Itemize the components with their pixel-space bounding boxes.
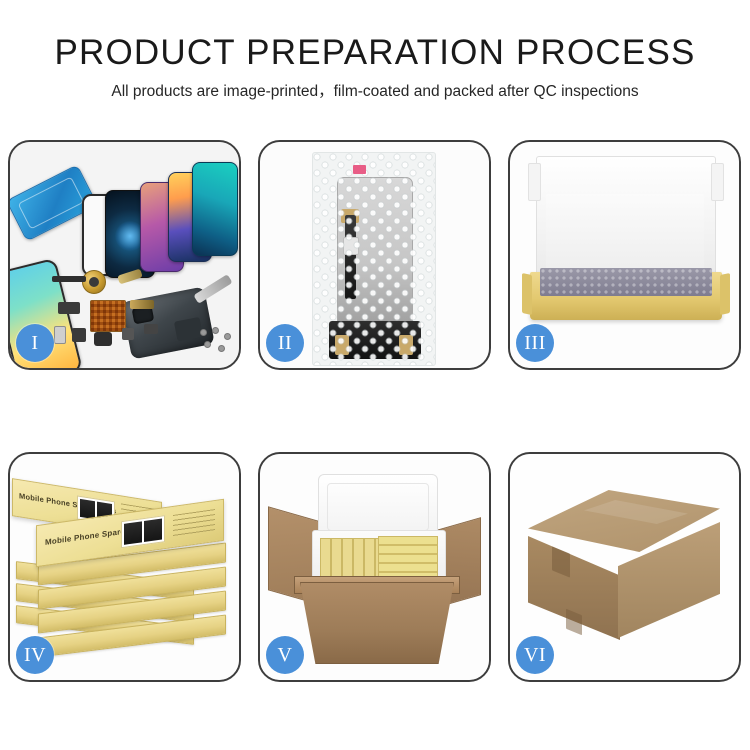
- small-module-part: [58, 302, 80, 314]
- pink-qc-label: [353, 165, 366, 174]
- box-artwork-screens: [121, 515, 165, 548]
- teal-gradient-phone: [192, 162, 238, 256]
- step-panel-1: I: [8, 140, 241, 370]
- step-panel-2: II: [258, 140, 491, 370]
- step-panel-6: VI: [508, 452, 741, 682]
- copper-mesh-part: [90, 300, 126, 332]
- step-badge-1: I: [16, 324, 54, 362]
- bubble-texture: [313, 153, 435, 365]
- step-badge-3: III: [516, 324, 554, 362]
- page-subtitle: All products are image-printed，film-coat…: [0, 81, 750, 103]
- box-spec-lines: [173, 509, 215, 539]
- step-badge-6: VI: [516, 636, 554, 674]
- process-steps-grid: I II: [8, 140, 742, 682]
- white-foam-sheet: [546, 194, 704, 278]
- step-badge-4: IV: [16, 636, 54, 674]
- gold-contact-strip-part: [130, 300, 154, 309]
- step-panel-4: Mobile Phone Spare Parts Mobile Phone Sp…: [8, 452, 241, 682]
- page-title: PRODUCT PREPARATION PROCESS: [0, 32, 750, 74]
- step-panel-5: V: [258, 452, 491, 682]
- product-preparation-infographic: PRODUCT PREPARATION PROCESS All products…: [0, 0, 750, 750]
- step-panel-3: III: [508, 140, 741, 370]
- carton-body: [300, 582, 454, 664]
- sensor-part: [144, 324, 158, 334]
- camera-module-part: [72, 328, 86, 342]
- sim-tray-part: [54, 326, 66, 344]
- copper-coil-part: [82, 270, 106, 294]
- step-badge-5: V: [266, 636, 304, 674]
- flex-cable-part: [52, 276, 86, 282]
- step-badge-2: II: [266, 324, 304, 362]
- screws-group: [199, 328, 233, 354]
- bubble-wrap-bag: [312, 152, 436, 366]
- button-part: [122, 328, 134, 340]
- header: PRODUCT PREPARATION PROCESS All products…: [0, 32, 750, 103]
- speaker-part: [94, 332, 112, 346]
- grey-foam-padding: [540, 268, 712, 296]
